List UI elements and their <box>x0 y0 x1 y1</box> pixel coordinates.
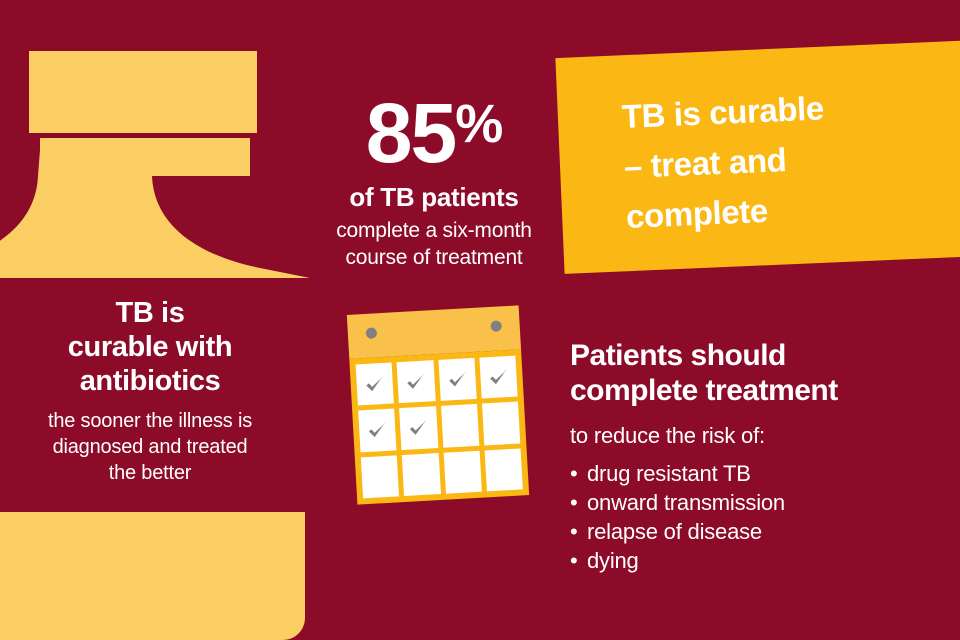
left-caption-subtext-line: the sooner the illness is <box>0 408 300 434</box>
calendar-cell-checked <box>358 409 397 452</box>
statistic-subtitle-line: complete a six-month <box>318 218 550 245</box>
calendar-cell-checked <box>479 356 518 399</box>
calendar-cell-checked <box>399 406 438 449</box>
right-lead-text: to reduce the risk of: <box>570 423 950 449</box>
right-heading-line: complete treatment <box>570 373 950 408</box>
pill-bottle-cap <box>29 51 257 133</box>
calendar-binder-dot-right-icon <box>490 320 502 332</box>
percent-sign: % <box>455 94 502 154</box>
statistic-number: 85% <box>318 92 550 174</box>
left-caption-heading-line: TB is <box>0 296 300 330</box>
risk-bullet-item: drug resistant TB <box>570 459 950 488</box>
right-heading: Patients should complete treatment <box>570 338 950 409</box>
calendar-grid <box>349 349 529 504</box>
left-caption-heading-line: curable with <box>0 330 300 364</box>
calendar-cell-checked <box>356 363 395 406</box>
risk-bullet-list: drug resistant TBonward transmissionrela… <box>570 459 950 575</box>
statistic-subtitle-detail: complete a six-month course of treatment <box>318 218 550 272</box>
left-caption-subtext: the sooner the illness is diagnosed and … <box>0 408 300 486</box>
risk-bullet-item: relapse of disease <box>570 517 950 546</box>
calendar-cell-empty <box>361 455 400 498</box>
calendar-cell-empty <box>402 453 441 496</box>
calendar-cell-empty <box>484 448 523 491</box>
pill-bottle-body <box>0 512 305 640</box>
right-heading-line: Patients should <box>570 338 950 373</box>
statistic-subtitle-bold: of TB patients <box>318 183 550 212</box>
right-text-block: Patients should complete treatment to re… <box>570 338 950 575</box>
calendar-cell-empty <box>443 450 482 493</box>
banner-callout: TB is curable – treat and complete <box>560 58 960 274</box>
left-caption-heading: TB is curable with antibiotics <box>0 296 300 399</box>
left-caption-subtext-line: the better <box>0 460 300 486</box>
left-caption-subtext-line: diagnosed and treated <box>0 434 300 460</box>
infographic-canvas: 85% of TB patients complete a six-month … <box>0 0 960 640</box>
calendar-binder-dot-left-icon <box>366 327 378 339</box>
calendar-cell-checked <box>397 360 436 403</box>
risk-bullet-item: dying <box>570 546 950 575</box>
banner-heading: TB is curable – treat and complete <box>621 77 960 242</box>
calendar-cell-empty <box>482 402 521 445</box>
left-caption-heading-line: antibiotics <box>0 364 300 398</box>
calendar-icon <box>347 305 529 504</box>
left-caption-block: TB is curable with antibiotics the soone… <box>0 296 300 486</box>
statistic-value: 85 <box>366 86 455 180</box>
risk-bullet-item: onward transmission <box>570 488 950 517</box>
calendar-cell-checked <box>438 358 477 401</box>
statistic-subtitle-line: course of treatment <box>318 245 550 272</box>
pill-bottle-shoulder <box>0 150 310 278</box>
calendar-cell-empty <box>441 404 480 447</box>
statistic-block: 85% of TB patients complete a six-month … <box>318 92 550 272</box>
